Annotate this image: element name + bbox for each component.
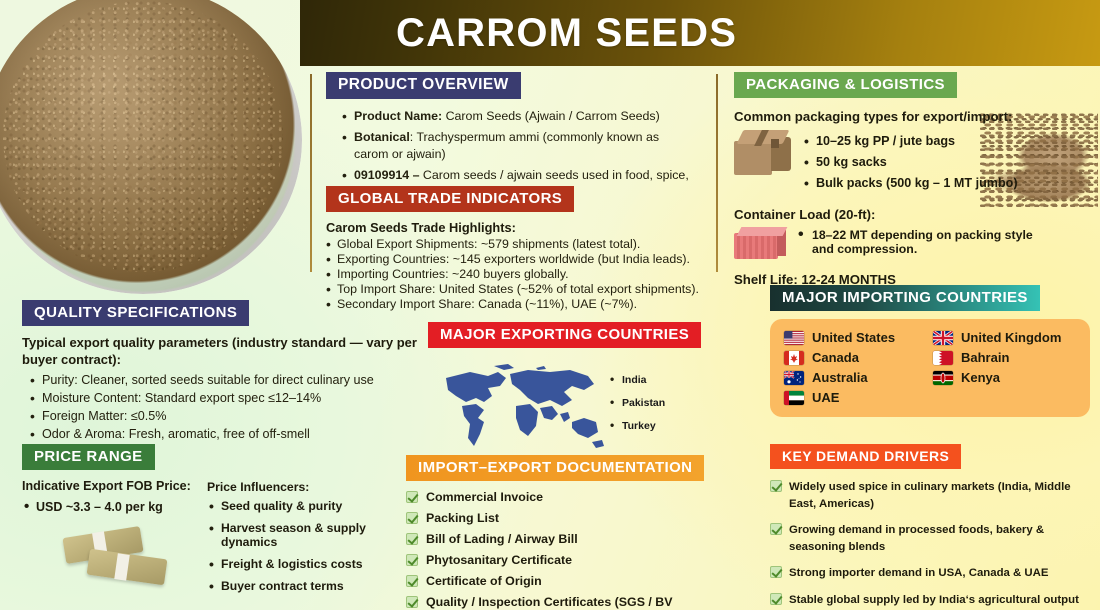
list-item: Harvest season & supply dynamics — [207, 521, 422, 549]
section-product-overview: PRODUCT OVERVIEW Product Name: Carom See… — [326, 72, 694, 205]
list-item: Quality / Inspection Certificates (SGS /… — [406, 595, 726, 610]
importing-countries-card: United States United Kingdom C — [770, 319, 1090, 417]
country-bahrain: Bahrain — [933, 350, 1076, 365]
demand-drivers-list: Widely used spice in culinary markets (I… — [770, 479, 1090, 609]
uk-flag-icon — [933, 331, 953, 345]
container-load-row: 18–22 MT depending on packing style and … — [734, 227, 1094, 261]
us-flag-icon — [784, 331, 804, 345]
checkmark-icon — [770, 523, 782, 535]
list-item: Commercial Invoice — [406, 490, 726, 504]
country-label: Bahrain — [961, 350, 1009, 365]
section-quality-specifications: QUALITY SPECIFICATIONS Typical export qu… — [22, 300, 422, 445]
infographic-canvas: CARROM SEEDS PRODUCT OVERVIEW Product Na… — [0, 0, 1100, 610]
list-item: Phytosanitary Certificate — [406, 553, 726, 567]
importing-heading: MAJOR IMPORTING COUNTRIES — [770, 285, 1040, 311]
quality-intro: Typical export quality parameters (indus… — [22, 335, 422, 369]
list-item: Odor & Aroma: Fresh, aromatic, free of o… — [28, 427, 422, 441]
list-item: 10–25 kg PP / jute bags — [802, 134, 1018, 148]
checkmark-icon — [406, 491, 418, 503]
country-uae: UAE — [784, 390, 927, 405]
list-item: Product Name: Carom Seeds (Ajwain / Carr… — [340, 108, 694, 125]
doc-label: Commercial Invoice — [426, 490, 543, 504]
canada-flag-icon — [784, 351, 804, 365]
doc-label: Packing List — [426, 511, 499, 525]
country-label: Canada — [812, 350, 859, 365]
list-item: Growing demand in processed foods, baker… — [770, 522, 1090, 556]
global-trade-subheading: Carom Seeds Trade Highlights: — [326, 220, 716, 235]
section-price-range: PRICE RANGE Indicative Export FOB Price:… — [22, 444, 422, 514]
uae-flag-icon — [784, 391, 804, 405]
list-item: 50 kg sacks — [802, 155, 1018, 169]
list-item: Packing List — [406, 511, 726, 525]
po-label-1: Botanical — [354, 130, 410, 144]
section-major-exporting-countries: MAJOR EXPORTING COUNTRIES India — [428, 322, 728, 456]
checkmark-icon — [406, 533, 418, 545]
checkmark-icon — [770, 593, 782, 605]
doc-label: Phytosanitary Certificate — [426, 553, 572, 567]
product-overview-heading: PRODUCT OVERVIEW — [326, 72, 521, 99]
list-item: Moisture Content: Standard export spec ≤… — [28, 391, 422, 405]
demand-label: Growing demand in processed foods, baker… — [789, 522, 1090, 556]
doc-label: Bill of Lading / Airway Bill — [426, 532, 578, 546]
list-item: Exporting Countries: ~145 exporters worl… — [326, 252, 716, 266]
list-item: Importing Countries: ~240 buyers globall… — [326, 267, 716, 281]
country-united-states: United States — [784, 330, 927, 345]
list-item: Global Export Shipments: ~579 shipments … — [326, 237, 716, 251]
container-load-list: 18–22 MT depending on packing style and … — [798, 228, 1046, 261]
country-kenya: Kenya — [933, 370, 1076, 385]
bowl-shading — [0, 0, 302, 294]
checkmark-icon — [406, 596, 418, 608]
doc-label: Quality / Inspection Certificates (SGS /… — [426, 595, 726, 610]
packaging-types-title: Common packaging types for export/import… — [734, 109, 1094, 124]
container-load-title: Container Load (20-ft): — [734, 207, 1094, 222]
cash-bundle-icon — [64, 526, 174, 588]
demand-label: Stable global supply led by India‘s agri… — [789, 592, 1079, 609]
section-major-importing-countries: MAJOR IMPORTING COUNTRIES United States — [770, 285, 1090, 417]
list-item: Widely used spice in culinary markets (I… — [770, 479, 1090, 513]
list-item: Top Import Share: United States (~52% of… — [326, 282, 716, 296]
country-label: Australia — [812, 370, 868, 385]
section-import-export-documentation: IMPORT–EXPORT DOCUMENTATION Commercial I… — [406, 455, 726, 610]
checkmark-icon — [406, 512, 418, 524]
country-label: United Kingdom — [961, 330, 1061, 345]
po-label-0: Product Name: — [354, 109, 442, 123]
list-item: Strong importer demand in USA, Canada & … — [770, 565, 1090, 582]
list-item: Buyer contract terms — [207, 579, 422, 593]
carom-seeds-bowl-image — [0, 0, 302, 294]
section-key-demand-drivers: KEY DEMAND DRIVERS Widely used spice in … — [770, 444, 1090, 610]
list-item: Purity: Cleaner, sorted seeds suitable f… — [28, 373, 422, 387]
list-item: 18–22 MT depending on packing style and … — [798, 228, 1046, 256]
list-item: Pakistan — [610, 397, 665, 409]
shipping-container-icon — [734, 227, 786, 261]
quality-heading: QUALITY SPECIFICATIONS — [22, 300, 249, 326]
list-item: Foreign Matter: ≤0.5% — [28, 409, 422, 423]
country-label: Kenya — [961, 370, 1000, 385]
world-map-wrapper: India Pakistan Turkey — [428, 360, 728, 456]
divider-vertical-left — [310, 74, 312, 272]
packaging-types-row: 10–25 kg PP / jute bags 50 kg sacks Bulk… — [734, 130, 1094, 197]
country-australia: Australia — [784, 370, 927, 385]
cardboard-box-icon — [734, 130, 792, 178]
page-title: CARROM SEEDS — [396, 11, 737, 56]
list-item: Stable global supply led by India‘s agri… — [770, 592, 1090, 609]
demand-label: Widely used spice in culinary markets (I… — [789, 479, 1090, 513]
section-packaging-logistics: PACKAGING & LOGISTICS Common packaging t… — [734, 72, 1094, 287]
section-global-trade-indicators: GLOBAL TRADE INDICATORS Carom Seeds Trad… — [326, 186, 716, 312]
quality-list: Purity: Cleaner, sorted seeds suitable f… — [28, 373, 422, 441]
checkmark-icon — [770, 566, 782, 578]
list-item: Bulk packs (500 kg – 1 MT jumbo) — [802, 176, 1018, 190]
exporting-countries-list: India Pakistan Turkey — [610, 374, 665, 443]
checkmark-icon — [770, 480, 782, 492]
po-text-0: Carom Seeds (Ajwain / Carrom Seeds) — [442, 109, 660, 123]
country-united-kingdom: United Kingdom — [933, 330, 1076, 345]
page-header: CARROM SEEDS — [300, 0, 1100, 66]
kenya-flag-icon — [933, 371, 953, 385]
list-item: Certificate of Origin — [406, 574, 726, 588]
country-canada: Canada — [784, 350, 927, 365]
packaging-heading: PACKAGING & LOGISTICS — [734, 72, 957, 98]
divider-vertical-right — [716, 74, 718, 272]
list-item: India — [610, 374, 665, 386]
country-label: United States — [812, 330, 895, 345]
australia-flag-icon — [784, 371, 804, 385]
price-influencers-title: Price Influencers: — [207, 480, 422, 494]
global-trade-heading: GLOBAL TRADE INDICATORS — [326, 186, 574, 212]
price-heading: PRICE RANGE — [22, 444, 155, 470]
bahrain-flag-icon — [933, 351, 953, 365]
demand-heading: KEY DEMAND DRIVERS — [770, 444, 961, 469]
demand-label: Strong importer demand in USA, Canada & … — [789, 565, 1048, 582]
checkmark-icon — [406, 575, 418, 587]
list-item: Bill of Lading / Airway Bill — [406, 532, 726, 546]
exporting-heading: MAJOR EXPORTING COUNTRIES — [428, 322, 701, 348]
documentation-list: Commercial Invoice Packing List Bill of … — [406, 490, 726, 610]
country-label: UAE — [812, 390, 839, 405]
world-map-icon — [432, 360, 608, 456]
list-item: Freight & logistics costs — [207, 557, 422, 571]
doc-label: Certificate of Origin — [426, 574, 542, 588]
list-item: Botanical: Trachyspermum ammi (commonly … — [340, 129, 694, 163]
checkmark-icon — [406, 554, 418, 566]
packaging-types-list: 10–25 kg PP / jute bags 50 kg sacks Bulk… — [802, 134, 1018, 197]
list-item: Turkey — [610, 420, 665, 432]
po-label-2: 09109914 – — [354, 168, 419, 182]
price-influencers-list: Seed quality & purity Harvest season & s… — [207, 499, 422, 593]
documentation-heading: IMPORT–EXPORT DOCUMENTATION — [406, 455, 704, 481]
list-item: Seed quality & purity — [207, 499, 422, 513]
price-influencers-block: Price Influencers: Seed quality & purity… — [207, 480, 422, 601]
